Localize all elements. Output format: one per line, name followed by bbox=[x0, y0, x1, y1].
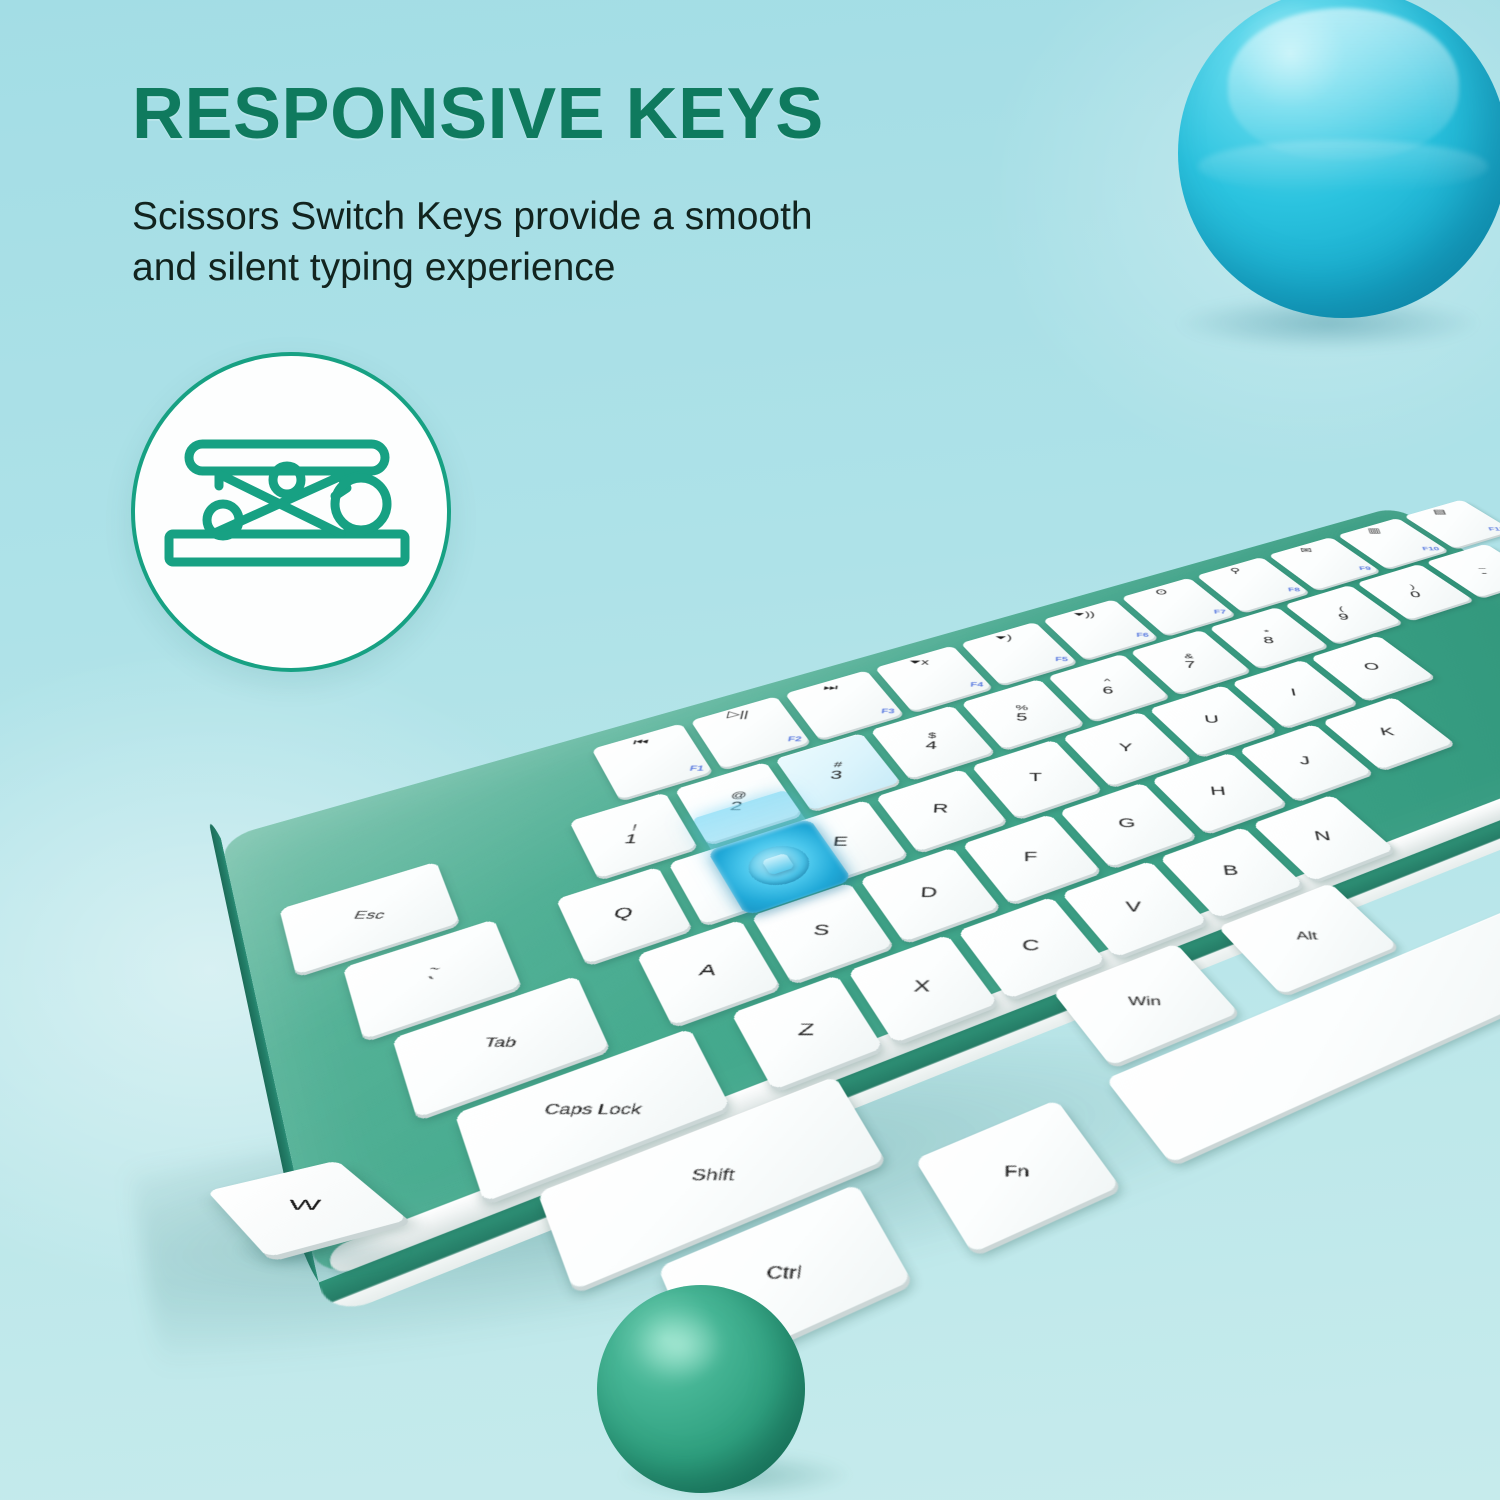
key-label-i: I bbox=[1244, 670, 1344, 716]
key-label-k: K bbox=[1334, 708, 1442, 757]
key-label-n4: $4 bbox=[882, 717, 979, 767]
key-fn[interactable]: Fn bbox=[914, 1100, 1120, 1254]
key-fn-label-f2: F2 bbox=[787, 735, 802, 743]
key-icon-f8: ⚲ bbox=[1200, 568, 1271, 575]
detached-keycap[interactable]: W bbox=[150, 1040, 570, 1360]
key-icon-f11: ▤ bbox=[1406, 509, 1474, 515]
key-label-u: U bbox=[1163, 696, 1262, 744]
key-fn-label-f11: F11 bbox=[1487, 526, 1500, 531]
key-icon-f1: ⏮ bbox=[598, 738, 682, 747]
cyan-sphere bbox=[1178, 0, 1500, 318]
key-label-o: O bbox=[1322, 646, 1423, 690]
key-fn-label-f1: F1 bbox=[689, 764, 705, 772]
green-sphere-highlight bbox=[634, 1310, 726, 1381]
key-fn-label-f9: F9 bbox=[1358, 566, 1372, 572]
key-icon-f10: ▥ bbox=[1340, 528, 1409, 534]
key-fn-label-f7: F7 bbox=[1213, 609, 1226, 615]
key-icon-f4: ⏷x bbox=[881, 658, 957, 666]
key-icon-f9: ✉ bbox=[1271, 547, 1341, 553]
key-icon-f7: ʘ bbox=[1126, 589, 1198, 596]
key-fn-label-f10: F10 bbox=[1421, 546, 1440, 552]
key-fn-label-f5: F5 bbox=[1055, 656, 1068, 663]
green-sphere bbox=[597, 1285, 805, 1493]
key-icon-f2: ▷|| bbox=[697, 710, 779, 719]
key-label-n6: ^6 bbox=[1063, 664, 1155, 709]
key-fn-label-f4: F4 bbox=[970, 681, 983, 688]
key-label-n8: *8 bbox=[1222, 616, 1316, 657]
key-fn-label-f3: F3 bbox=[881, 707, 895, 715]
product-marketing-image: RESPONSIVE KEYS Scissors Switch Keys pro… bbox=[0, 0, 1500, 1500]
detached-keycap-top[interactable]: W bbox=[207, 1160, 408, 1257]
key-label-y: Y bbox=[1078, 723, 1176, 774]
key-label-n5: %5 bbox=[976, 690, 1069, 738]
cyan-sphere-band bbox=[1198, 140, 1488, 193]
key-fn-label-f6: F6 bbox=[1136, 632, 1149, 639]
key-label-n7: &7 bbox=[1144, 640, 1237, 683]
key-fn-label-f8: F8 bbox=[1287, 587, 1300, 593]
cyan-sphere-highlight bbox=[1228, 8, 1459, 160]
key-label-fn: Fn bbox=[931, 1127, 1102, 1221]
key-icon-f3: ⏭ bbox=[791, 684, 870, 692]
detached-keycap-label: W bbox=[223, 1175, 382, 1239]
key-icon-f6: ⏷)) bbox=[1048, 611, 1121, 618]
key-icon-f5: ⏷) bbox=[966, 634, 1040, 642]
